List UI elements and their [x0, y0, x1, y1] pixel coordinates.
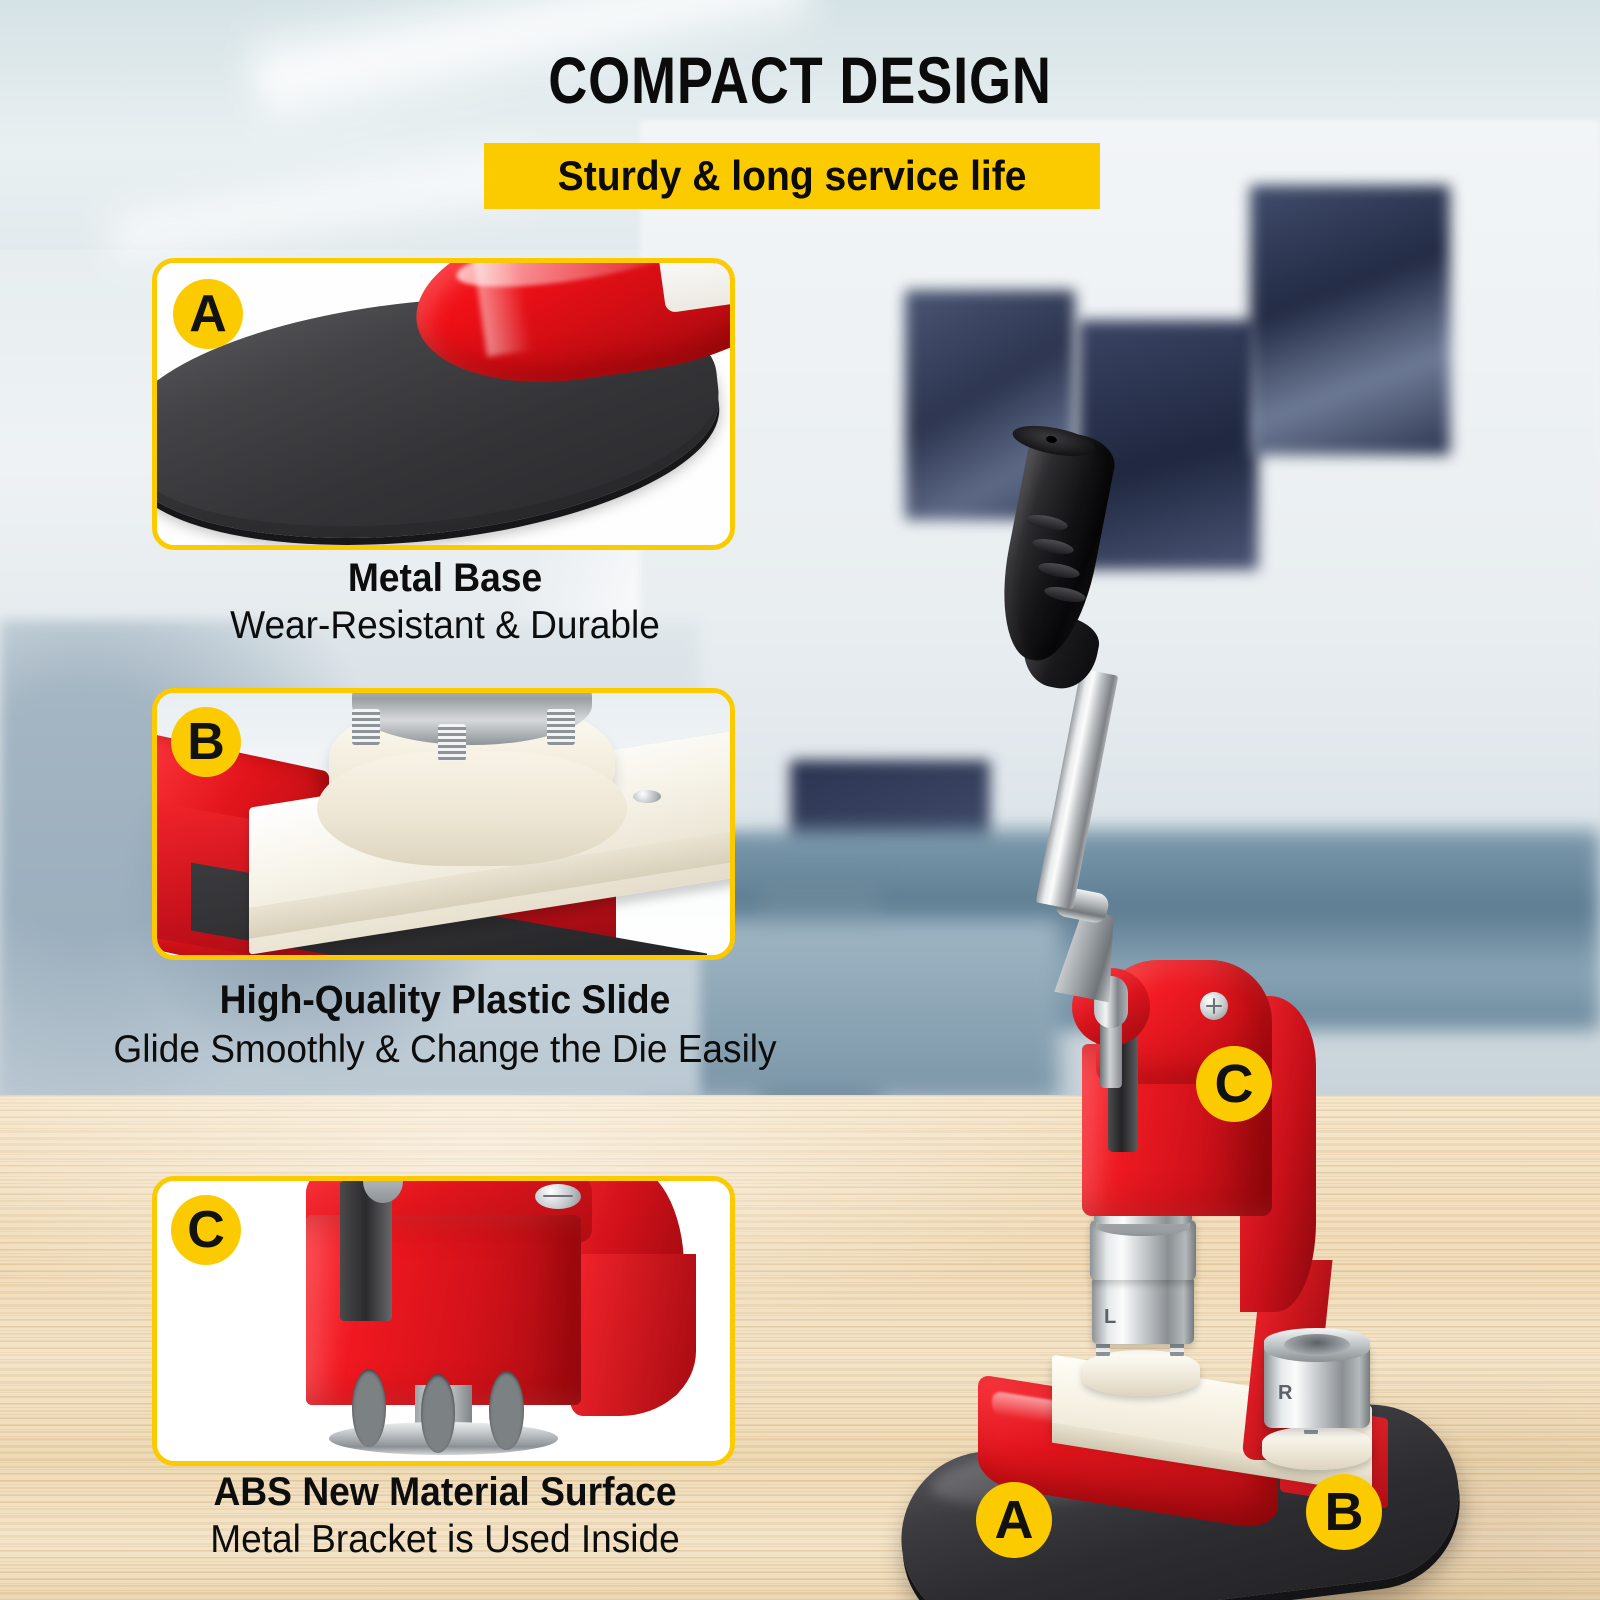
callout-panel-a: A [152, 258, 735, 550]
die-right-bore [1284, 1334, 1350, 1356]
abs-body-photo [157, 1181, 730, 1461]
panel-b-caption-title: High-Quality Plastic Slide [31, 978, 859, 1023]
subtitle-text: Sturdy & long service life [558, 152, 1027, 200]
plastic-slide-photo [157, 693, 730, 955]
background-framed-picture [1250, 185, 1450, 455]
die-label-right: R [1278, 1382, 1292, 1405]
page-title: COMPACT DESIGN [144, 42, 1456, 118]
metal-base-photo [157, 263, 730, 545]
panel-badge-b: B [171, 707, 241, 777]
white-slide-corner [657, 263, 730, 313]
flange-bolt-hole [352, 1369, 386, 1447]
panel-c-caption-sub: Metal Bracket is Used Inside [22, 1518, 868, 1562]
panel-a-image [157, 263, 730, 545]
phillips-screw [535, 1184, 581, 1209]
slide-screw [633, 790, 662, 803]
hero-badge-b: B [1306, 1474, 1382, 1550]
die-label-left: L [1104, 1306, 1116, 1329]
die-spring [352, 709, 381, 746]
panel-c-image [157, 1181, 730, 1461]
plastic-disc-upper [317, 751, 626, 866]
hero-badge-c: C [1196, 1046, 1272, 1122]
hero-badge-a: A [976, 1482, 1052, 1558]
die-spring [547, 709, 576, 746]
chrome-lever-shaft [1036, 669, 1119, 910]
phillips-screw [1200, 992, 1228, 1020]
callout-panel-b: B [152, 688, 735, 960]
panel-b-caption-sub: Glide Smoothly & Change the Die Easily [22, 1028, 868, 1072]
panel-c-caption-title: ABS New Material Surface [31, 1470, 859, 1515]
red-arm-lower [570, 1254, 696, 1416]
callout-panel-c: C [152, 1176, 735, 1466]
panel-a-caption-sub: Wear-Resistant & Durable [22, 604, 868, 648]
panel-badge-c: C [171, 1195, 241, 1265]
panel-badge-a: A [173, 279, 243, 349]
flange-bolt-hole [421, 1374, 455, 1452]
panel-a-caption-title: Metal Base [31, 556, 859, 601]
flange-bolt-hole [489, 1371, 523, 1449]
panel-b-image [157, 693, 730, 955]
die-spring [438, 724, 467, 761]
hero-product-photo: L R C B A [860, 420, 1560, 1580]
subtitle-banner: Sturdy & long service life [484, 143, 1100, 209]
